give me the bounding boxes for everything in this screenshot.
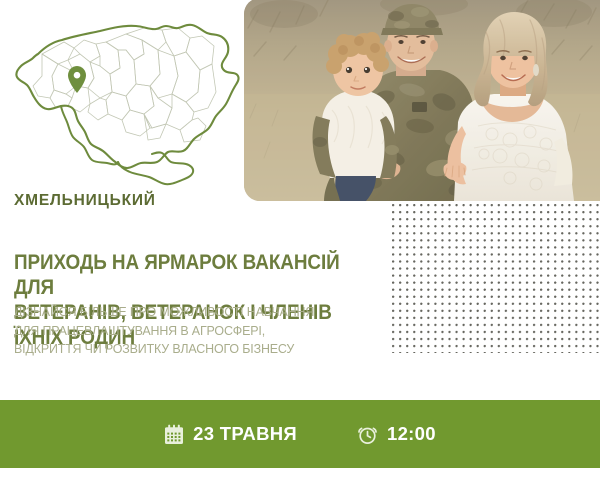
event-time: 12:00: [357, 423, 436, 445]
ukraine-map-outline-icon: [8, 14, 244, 192]
alarm-clock-icon: [357, 424, 378, 445]
family-photo-image: [244, 0, 600, 201]
event-date: 23 ТРАВНЯ: [164, 423, 297, 445]
city-label: ХМЕЛЬНИЦЬКИЙ: [14, 192, 156, 210]
event-time-text: 12:00: [387, 423, 436, 445]
event-date-text: 23 ТРАВНЯ: [193, 423, 297, 445]
calendar-icon: [164, 424, 184, 445]
dot-grid-pattern: [392, 204, 600, 353]
ukraine-map: [8, 14, 244, 192]
event-poster: ХМЕЛЬНИЦЬКИЙ: [0, 0, 600, 503]
page-subtitle: ДІЗНАЙСЯ БІЛЬШЕ ПРО МОЖЛИВОСТІ НАВЧАННЯ …: [14, 303, 375, 359]
map-pin-icon: [68, 66, 86, 93]
family-photo: [244, 0, 600, 201]
event-details-bar: 23 ТРАВНЯ 12:00: [0, 400, 600, 468]
